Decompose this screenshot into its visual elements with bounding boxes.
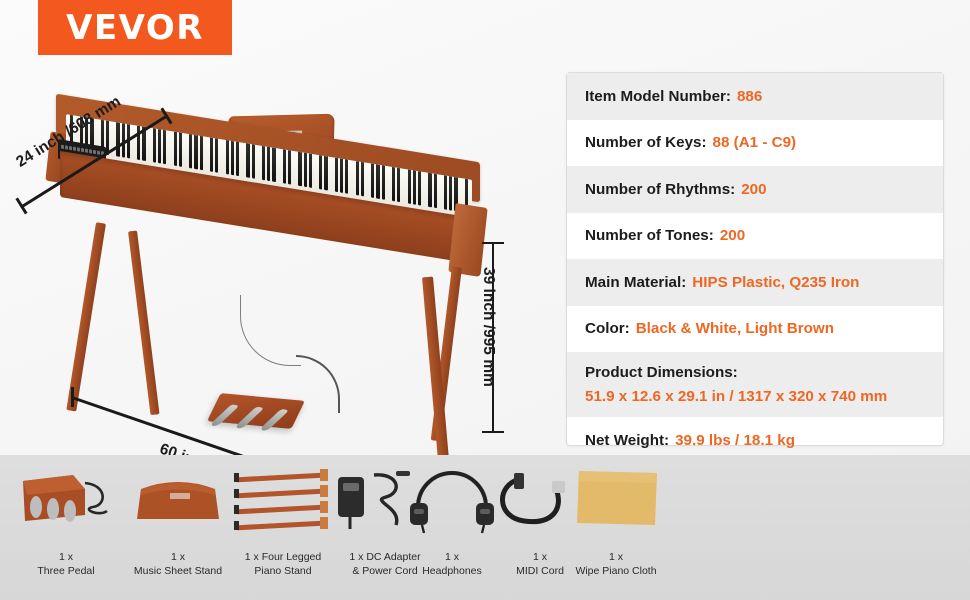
spec-value: 88 (A1 - C9) bbox=[713, 134, 797, 151]
height-dimension-label: 39 inch /995 mm bbox=[479, 267, 497, 387]
spec-value: Black & White, Light Brown bbox=[636, 320, 834, 337]
spec-row: Number of Tones:200 bbox=[567, 213, 943, 260]
pedal-cable bbox=[296, 355, 340, 413]
music-sheet-stand-icon bbox=[118, 463, 238, 535]
spec-value: 886 bbox=[737, 88, 762, 105]
accessory-name: Wipe Piano Cloth bbox=[575, 565, 656, 577]
spec-label: Main Material: bbox=[585, 274, 686, 291]
accessory-label: 1 xMusic Sheet Stand bbox=[118, 551, 238, 579]
piano-black-key bbox=[309, 153, 312, 188]
height-dimension-cap-top bbox=[482, 242, 504, 244]
specification-panel: Item Model Number:886Number of Keys:88 (… bbox=[566, 72, 944, 446]
accessory-item: 1 xThree Pedal bbox=[6, 463, 126, 579]
piano-black-key bbox=[361, 162, 364, 197]
three-pedal-icon bbox=[6, 463, 126, 535]
piano-black-key bbox=[324, 156, 327, 191]
wipe-cloth-icon bbox=[556, 463, 676, 535]
control-button bbox=[89, 149, 92, 153]
piano-black-key bbox=[376, 164, 379, 199]
piano-black-key bbox=[272, 148, 275, 183]
accessory-item: 1 x Four LeggedPiano Stand bbox=[228, 463, 338, 579]
pedal-left bbox=[209, 404, 239, 427]
piano-black-key bbox=[252, 144, 255, 179]
accessory-qty: 1 x Four Legged bbox=[228, 551, 338, 565]
control-button bbox=[81, 148, 84, 152]
spec-value: HIPS Plastic, Q235 Iron bbox=[692, 274, 859, 291]
spec-row: Number of Keys:88 (A1 - C9) bbox=[567, 120, 943, 167]
spec-row: Product Dimensions:51.9 x 12.6 x 29.1 in… bbox=[567, 352, 943, 417]
piano-black-key bbox=[397, 168, 400, 203]
piano-black-key bbox=[267, 147, 270, 182]
piano-black-key bbox=[231, 141, 234, 176]
piano-black-key bbox=[215, 138, 218, 173]
headphones-icon bbox=[400, 463, 504, 535]
piano-black-key bbox=[262, 146, 265, 181]
accessory-name: Piano Stand bbox=[254, 565, 311, 577]
piano-black-key bbox=[200, 136, 203, 171]
height-dimension-cap-bottom bbox=[482, 431, 504, 433]
piano-black-key bbox=[236, 142, 239, 177]
spec-label: Number of Rhythms: bbox=[585, 181, 735, 198]
piano-black-key bbox=[163, 130, 166, 165]
spec-row: Item Model Number:886 bbox=[567, 73, 943, 120]
control-button bbox=[97, 150, 100, 154]
piano-black-key bbox=[298, 152, 301, 187]
four-legged-stand-icon bbox=[228, 463, 338, 535]
piano-black-key bbox=[356, 161, 359, 196]
piano-black-key bbox=[288, 150, 291, 185]
spec-label: Product Dimensions: bbox=[585, 364, 738, 381]
piano-leg-front-left bbox=[128, 230, 159, 415]
accessory-name: Three Pedal bbox=[37, 565, 94, 577]
piano-black-key bbox=[246, 143, 249, 178]
piano-black-key bbox=[408, 169, 411, 204]
piano-black-key bbox=[179, 132, 182, 167]
product-spec-sheet: VEVOR VEVOR 24 inch /608 mm 6 bbox=[0, 0, 970, 600]
piano-black-key bbox=[153, 128, 156, 163]
control-button bbox=[69, 146, 72, 150]
piano-black-key bbox=[449, 176, 452, 211]
piano-black-key bbox=[413, 170, 416, 205]
pedal-center bbox=[234, 406, 264, 429]
piano-leg-rear-left bbox=[66, 222, 106, 411]
piano-cable bbox=[240, 295, 301, 366]
accessory-qty: 1 x bbox=[118, 551, 238, 565]
piano-black-key bbox=[434, 174, 437, 209]
spec-label: Number of Keys: bbox=[585, 134, 707, 151]
accessory-qty: 1 x bbox=[556, 551, 676, 565]
spec-value: 200 bbox=[720, 227, 745, 244]
piano-black-key bbox=[304, 153, 307, 188]
vevor-logo: VEVOR bbox=[38, 0, 232, 55]
spec-row: Main Material:HIPS Plastic, Q235 Iron bbox=[567, 259, 943, 306]
piano-black-key bbox=[340, 158, 343, 193]
piano-black-key bbox=[283, 149, 286, 184]
spec-row: Color:Black & White, Light Brown bbox=[567, 306, 943, 353]
piano-black-key bbox=[174, 132, 177, 167]
spec-value: 51.9 x 12.6 x 29.1 in / 1317 x 320 x 740… bbox=[585, 385, 943, 409]
pedal-right bbox=[259, 409, 289, 432]
piano-black-key bbox=[116, 122, 119, 157]
accessory-label: 1 xHeadphones bbox=[400, 551, 504, 579]
width-dimension-cap-start bbox=[71, 387, 74, 407]
piano-black-key bbox=[319, 155, 322, 190]
depth-dimension-cap-start bbox=[15, 198, 27, 215]
control-button bbox=[85, 148, 88, 152]
piano-black-key bbox=[428, 173, 431, 208]
spec-row: Number of Rhythms:200 bbox=[567, 166, 943, 213]
spec-value: 39.9 lbs / 18.1 kg bbox=[675, 432, 795, 449]
accessory-item: 1 xMusic Sheet Stand bbox=[118, 463, 238, 579]
accessories-strip: 1 xThree Pedal1 xMusic Sheet Stand1 x Fo… bbox=[0, 455, 970, 600]
spec-label: Net Weight: bbox=[585, 432, 669, 449]
spec-label: Item Model Number: bbox=[585, 88, 731, 105]
spec-value: 200 bbox=[741, 181, 766, 198]
piano-black-key bbox=[371, 164, 374, 199]
piano-black-key bbox=[226, 140, 229, 175]
piano-black-key bbox=[345, 159, 348, 194]
control-button bbox=[73, 147, 76, 151]
piano-black-key bbox=[382, 165, 385, 200]
spec-label: Color: bbox=[585, 320, 630, 337]
accessory-item: 1 xHeadphones bbox=[400, 463, 504, 579]
piano-black-key bbox=[444, 175, 447, 210]
control-button bbox=[65, 145, 68, 149]
control-button bbox=[93, 150, 96, 154]
accessory-qty: 1 x bbox=[6, 551, 126, 565]
control-button bbox=[77, 147, 80, 151]
vevor-logo-text: VEVOR bbox=[66, 11, 204, 45]
accessory-name: Headphones bbox=[422, 565, 482, 577]
piano-black-key bbox=[189, 134, 192, 169]
pedal-unit bbox=[207, 393, 305, 429]
piano-black-key bbox=[158, 129, 161, 164]
piano-black-key bbox=[335, 158, 338, 193]
piano-black-key bbox=[418, 171, 421, 206]
accessory-name: Music Sheet Stand bbox=[134, 565, 222, 577]
spec-label: Number of Tones: bbox=[585, 227, 714, 244]
piano-black-key bbox=[194, 135, 197, 170]
accessory-label: 1 x Four LeggedPiano Stand bbox=[228, 551, 338, 579]
accessory-label: 1 xThree Pedal bbox=[6, 551, 126, 579]
piano-black-key bbox=[392, 167, 395, 202]
accessory-label: 1 xWipe Piano Cloth bbox=[556, 551, 676, 579]
piano-illustration: VEVOR 24 inch /608 mm 60 inch /1524 mm bbox=[0, 55, 560, 455]
accessory-qty: 1 x bbox=[400, 551, 504, 565]
piano-black-key bbox=[210, 137, 213, 172]
accessory-item: 1 xWipe Piano Cloth bbox=[556, 463, 676, 579]
